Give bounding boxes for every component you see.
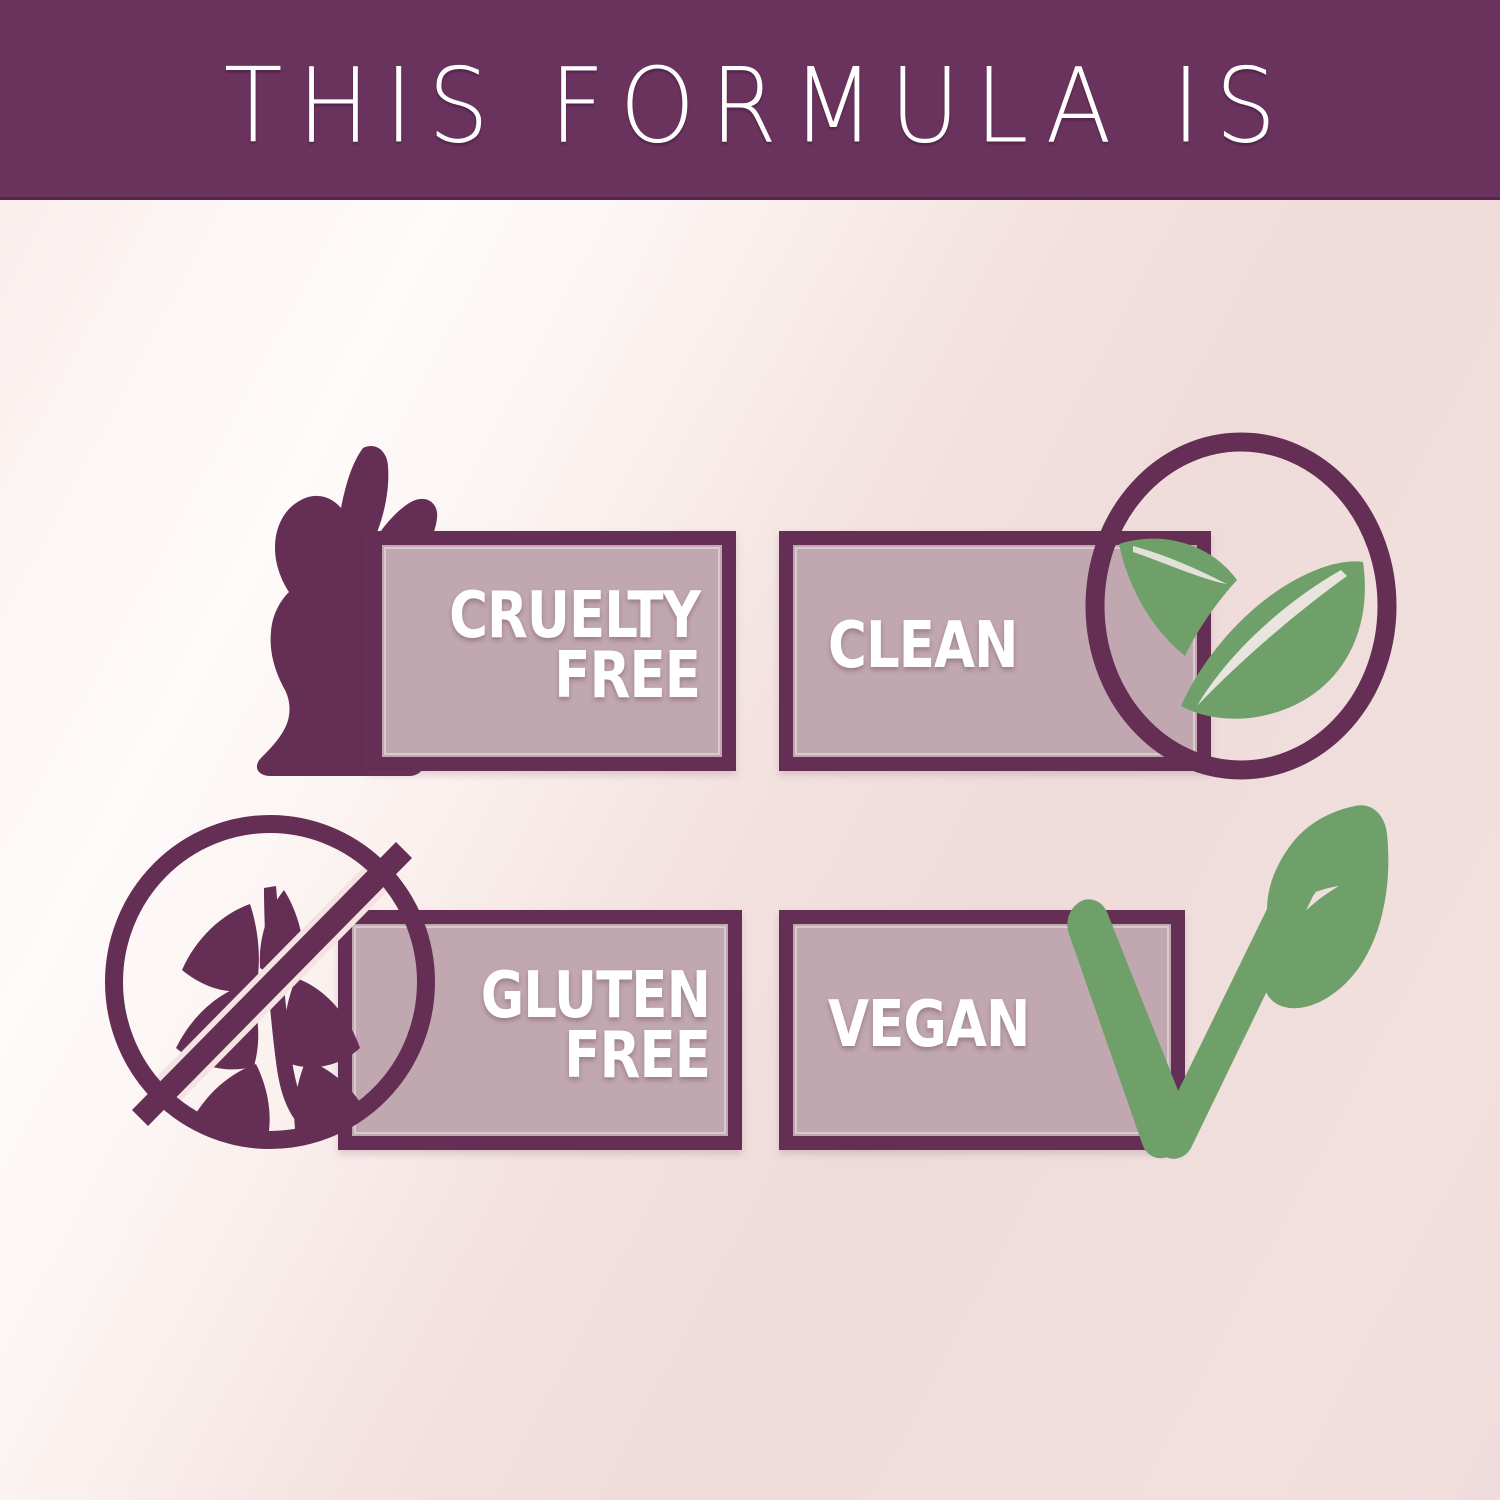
leaves-circle-icon xyxy=(1085,434,1397,779)
gluten-free-label: GLUTEN FREE xyxy=(452,966,710,1086)
vegan-label: VEGAN xyxy=(828,995,1132,1055)
leaf-checkmark-icon xyxy=(1055,800,1395,1170)
formula-claims-infographic: THIS FORMULA IS CRUELTY FREE CLEAN xyxy=(0,0,1500,1500)
clean-label: CLEAN xyxy=(828,616,1122,676)
no-wheat-icon xyxy=(100,812,440,1152)
badge-grid: CRUELTY FREE CLEAN GLUTEN FR xyxy=(0,0,1500,1500)
cruelty-free-label: CRUELTY FREE xyxy=(424,586,700,706)
